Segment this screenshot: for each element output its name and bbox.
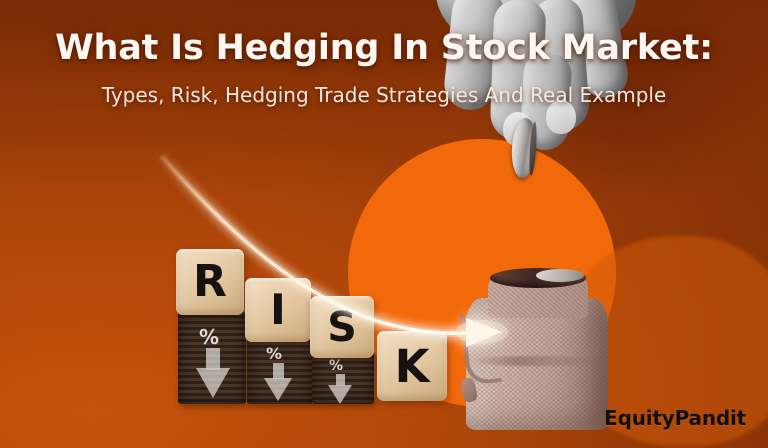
brand-watermark: EquityPandit — [604, 406, 746, 430]
page-subtitle: Types, Risk, Hedging Trade Strategies An… — [0, 83, 768, 107]
page-title: What Is Hedging In Stock Market: — [0, 28, 768, 68]
percent-symbol-2: % — [266, 344, 282, 363]
hero-banner: % % % R I S K — [0, 0, 768, 448]
down-arrow-1 — [196, 348, 230, 398]
wooden-block-k: K — [377, 331, 447, 401]
sack-coin-in-opening — [536, 269, 584, 282]
wooden-block-i: I — [245, 278, 311, 342]
down-arrow-3 — [328, 374, 352, 404]
wooden-block-r: R — [176, 249, 244, 315]
wooden-block-s: S — [310, 296, 374, 358]
money-sack-image — [462, 268, 612, 430]
percent-symbol-1: % — [199, 325, 219, 349]
percent-symbol-3: % — [329, 358, 343, 374]
down-arrow-2 — [264, 363, 292, 401]
